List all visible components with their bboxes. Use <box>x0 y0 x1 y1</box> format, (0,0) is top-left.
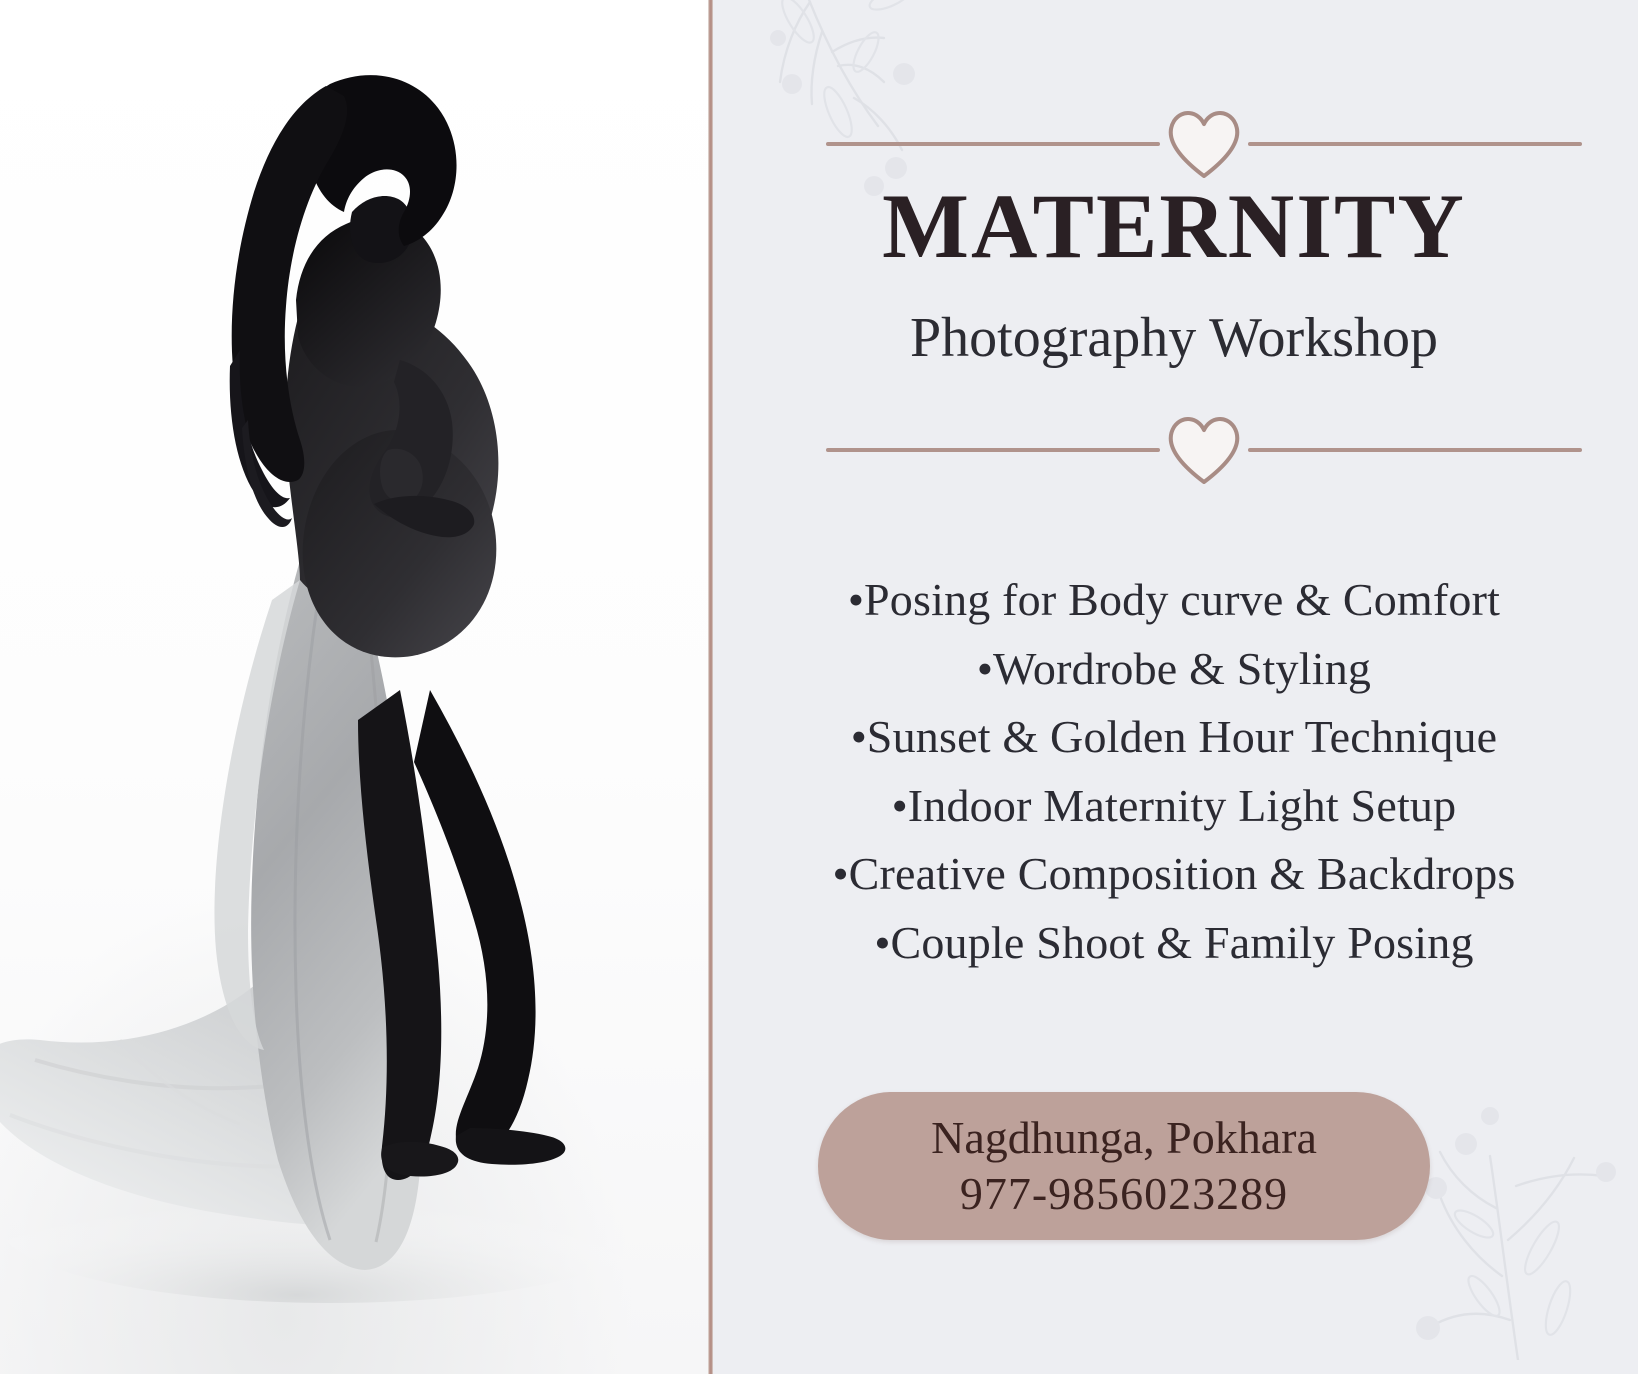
list-item: •Wordrobe & Styling <box>736 635 1612 704</box>
bullet-icon: • <box>874 917 890 968</box>
bullet-icon: • <box>848 574 864 625</box>
list-item: •Sunset & Golden Hour Technique <box>736 703 1612 772</box>
list-item: •Couple Shoot & Family Posing <box>736 909 1612 978</box>
list-item: •Posing for Body curve & Comfort <box>736 566 1612 635</box>
heart-divider-bottom <box>826 412 1582 488</box>
bullet-icon: • <box>892 780 908 831</box>
contact-phone: 977-9856023289 <box>960 1166 1288 1222</box>
vertical-divider <box>708 0 713 1374</box>
maternity-photo-pane <box>0 0 710 1374</box>
divider-line-right <box>1248 448 1582 452</box>
bullet-icon: • <box>851 711 867 762</box>
list-item-label: Indoor Maternity Light Setup <box>908 780 1457 831</box>
divider-line-left <box>826 448 1160 452</box>
list-item: •Creative Composition & Backdrops <box>736 840 1612 909</box>
bullet-icon: • <box>832 848 848 899</box>
contact-location: Nagdhunga, Pokhara <box>931 1110 1317 1166</box>
list-item: •Indoor Maternity Light Setup <box>736 772 1612 841</box>
pregnant-woman-silhouette-image <box>0 0 710 1374</box>
heart-divider-top <box>826 106 1582 182</box>
info-pane: MATERNITY Photography Workshop •Posing f… <box>710 0 1638 1374</box>
list-item-label: Couple Shoot & Family Posing <box>890 917 1473 968</box>
page-subtitle: Photography Workshop <box>710 308 1638 370</box>
maternity-workshop-poster: MATERNITY Photography Workshop •Posing f… <box>0 0 1638 1374</box>
list-item-label: Posing for Body curve & Comfort <box>864 574 1500 625</box>
page-title: MATERNITY <box>710 180 1638 272</box>
workshop-feature-list: •Posing for Body curve & Comfort •Wordro… <box>736 566 1612 977</box>
divider-line-right <box>1248 142 1582 146</box>
divider-line-left <box>826 142 1160 146</box>
heart-outline-icon <box>1162 106 1246 182</box>
botanical-sprig-icon <box>1398 1060 1638 1360</box>
list-item-label: Creative Composition & Backdrops <box>849 848 1516 899</box>
bullet-icon: • <box>977 643 993 694</box>
heart-outline-icon <box>1162 412 1246 488</box>
list-item-label: Wordrobe & Styling <box>993 643 1371 694</box>
list-item-label: Sunset & Golden Hour Technique <box>867 711 1498 762</box>
contact-badge[interactable]: Nagdhunga, Pokhara 977-9856023289 <box>818 1092 1430 1240</box>
